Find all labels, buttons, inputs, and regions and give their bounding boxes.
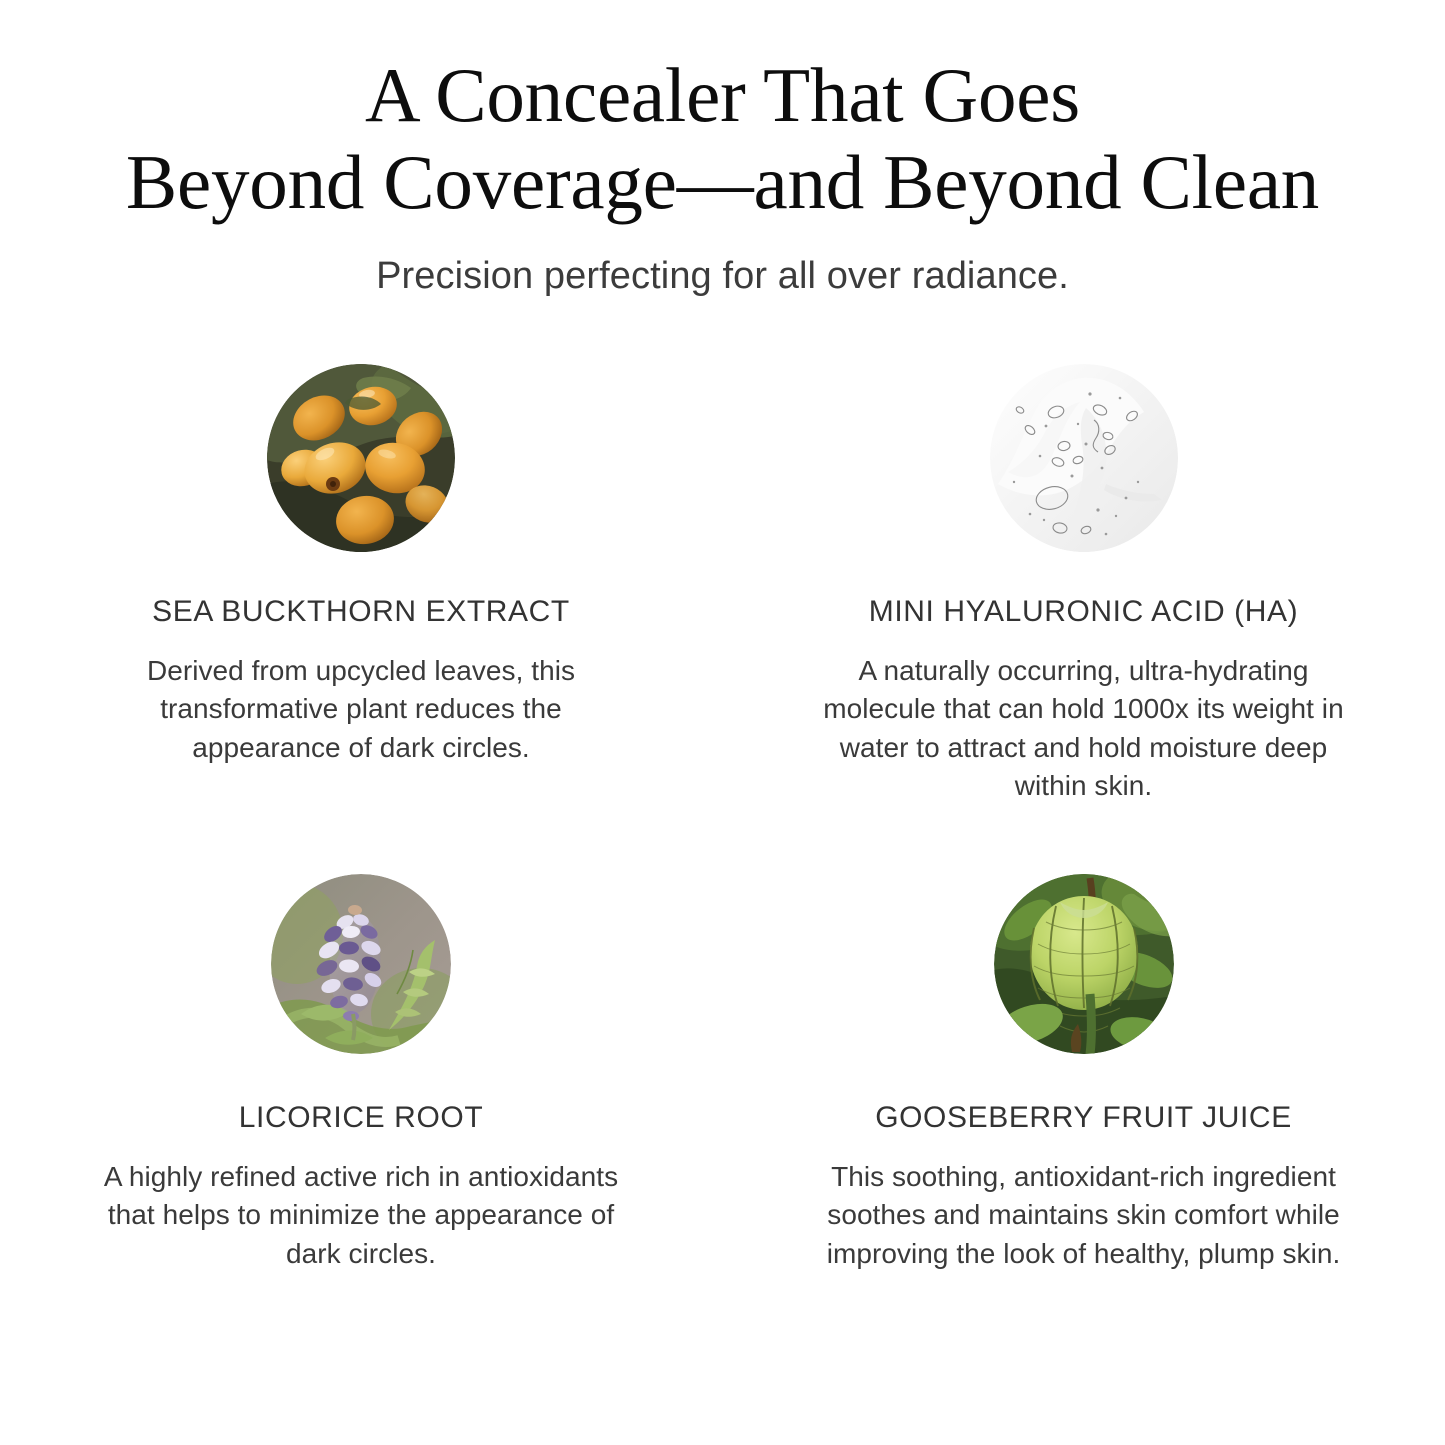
- ingredient-card-hyaluronic-acid: MINI HYALURONIC ACID (HA) A naturally oc…: [722, 364, 1445, 874]
- ingredient-benefits-infographic: A Concealer That Goes Beyond Coverage—an…: [0, 0, 1445, 1445]
- licorice-root-flower-image: [271, 874, 451, 1054]
- ingredient-description: Derived from upcycled leaves, this trans…: [89, 652, 634, 768]
- ingredient-card-sea-buckthorn: SEA BUCKTHORN EXTRACT Derived from upcyc…: [0, 364, 722, 874]
- ingredient-card-gooseberry: GOOSEBERRY FRUIT JUICE This soothing, an…: [722, 874, 1445, 1274]
- ingredient-title: GOOSEBERRY FRUIT JUICE: [875, 1100, 1292, 1136]
- ingredient-title: SEA BUCKTHORN EXTRACT: [152, 594, 570, 630]
- sea-buckthorn-berries-image: [267, 364, 455, 552]
- ingredient-grid: SEA BUCKTHORN EXTRACT Derived from upcyc…: [0, 364, 1445, 1274]
- ingredient-description: This soothing, antioxidant-rich ingredie…: [811, 1158, 1356, 1274]
- page-title: A Concealer That Goes Beyond Coverage—an…: [103, 52, 1343, 226]
- ingredient-card-licorice-root: LICORICE ROOT A highly refined active ri…: [0, 874, 722, 1274]
- ingredient-description: A naturally occurring, ultra-hydrating m…: [811, 652, 1356, 807]
- gooseberry-husk-fruit-image: [994, 874, 1174, 1054]
- ingredient-title: MINI HYALURONIC ACID (HA): [869, 594, 1298, 630]
- ingredient-description: A highly refined active rich in antioxid…: [89, 1158, 634, 1274]
- header: A Concealer That Goes Beyond Coverage—an…: [0, 0, 1445, 300]
- page-subtitle: Precision perfecting for all over radian…: [0, 254, 1445, 300]
- ingredient-title: LICORICE ROOT: [239, 1100, 484, 1136]
- hyaluronic-acid-gel-texture-image: [990, 364, 1178, 552]
